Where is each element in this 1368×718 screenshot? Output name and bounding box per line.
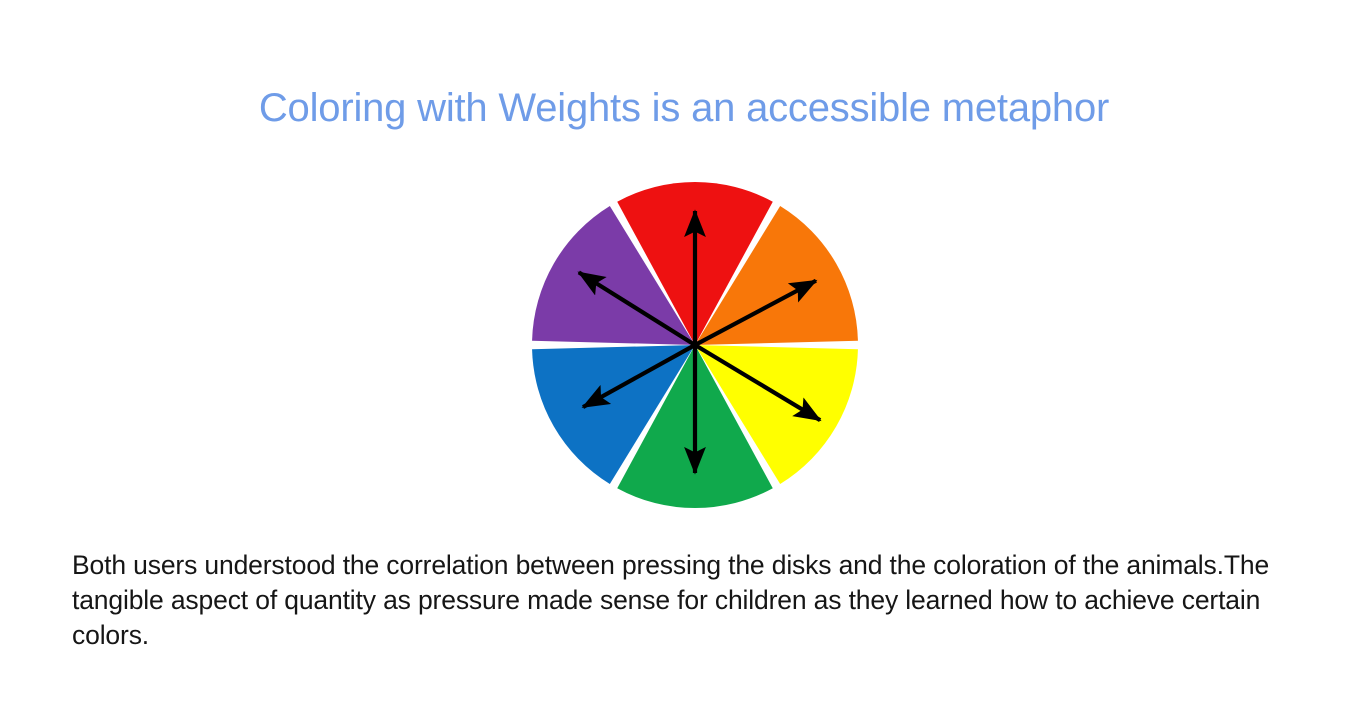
body-paragraph: Both users understood the correlation be… [72, 548, 1312, 654]
color-wheel-figure [530, 181, 860, 511]
color-wheel-svg [530, 181, 860, 511]
page-title: Coloring with Weights is an accessible m… [0, 85, 1368, 131]
slide-canvas: Coloring with Weights is an accessible m… [0, 0, 1368, 718]
